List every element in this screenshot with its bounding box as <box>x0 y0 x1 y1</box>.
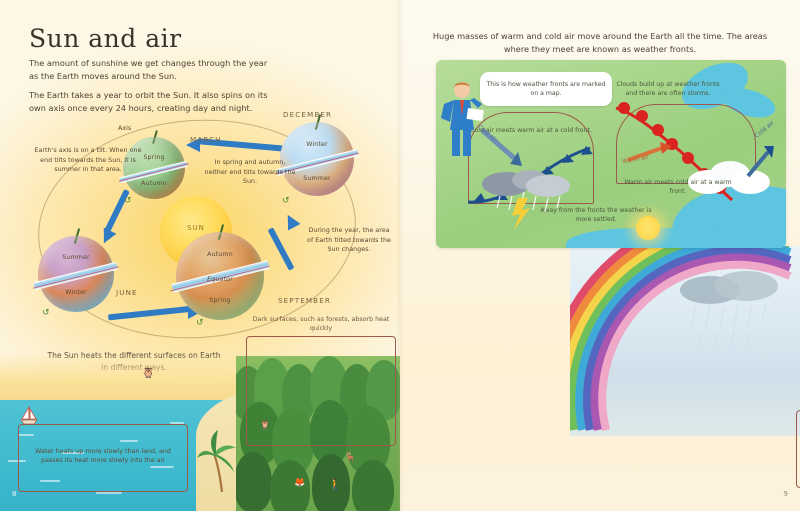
orbit-arrow-2 <box>94 186 140 246</box>
right-intro: Huge masses of warm and cold air move ar… <box>400 30 800 56</box>
month-label-march: MARCH <box>190 135 222 144</box>
cold-air-arrow-2 <box>742 142 778 182</box>
storm-cloud-icon <box>478 170 588 240</box>
callout-water: Water heats up more slowly than land, an… <box>18 424 188 492</box>
axis-label: Axis <box>118 124 131 132</box>
spin-icon-march: ↺ <box>124 196 132 206</box>
globe-label-september-north: Autumn <box>176 251 264 258</box>
callout-forest-text: Dark surfaces, such as forests, absorb h… <box>247 315 395 334</box>
clouds-caption: Clouds build up at weather fronts and th… <box>612 80 724 99</box>
speech-bubble-text: This is how weather fronts are marked on… <box>480 80 612 99</box>
book-spread: Sun and air The amount of sunshine we ge… <box>0 0 800 511</box>
page-number-left: 8 <box>12 490 16 498</box>
note-tilt-changes: During the year, the area of Earth tilte… <box>306 226 392 255</box>
callout-water-text: Water heats up more slowly than land, an… <box>19 447 187 466</box>
warm-air-arrow <box>624 140 680 168</box>
globe-label-june-north: Summer <box>38 254 114 261</box>
earth-globe-september: Autumn Equator Spring <box>176 232 264 320</box>
seagull-icon: 🦉 <box>142 368 154 379</box>
globe-label-june-south: Winter <box>38 289 114 296</box>
globe-label-equator: Equator <box>176 276 264 283</box>
speech-bubble: This is how weather fronts are marked on… <box>480 72 612 106</box>
month-label-september: SEPTEMBER <box>278 296 331 305</box>
weatherman-figure <box>438 78 486 158</box>
spin-icon-june: ↺ <box>42 308 50 318</box>
globe-label-september-south: Spring <box>176 297 264 304</box>
callout-pale: Pale surfaces reflect the Sun's rays. Th… <box>796 410 800 488</box>
rain-cloud-icon <box>674 270 794 380</box>
globe-label-december-north: Winter <box>280 141 354 148</box>
warm-front-caption: Warm air meets cold air at a warm front. <box>624 178 732 197</box>
lightning-icon <box>512 198 530 230</box>
spin-icon-september: ↺ <box>196 318 204 328</box>
note-spring-autumn: In spring and autumn, neither end tilts … <box>204 158 296 187</box>
fox-icon: 🦊 <box>294 478 305 488</box>
hiker-icon: 🚶 <box>328 478 342 491</box>
deer-icon: 🦌 <box>344 452 356 463</box>
left-page: Sun and air The amount of sunshine we ge… <box>0 0 400 511</box>
palm-tree-icon <box>196 420 252 494</box>
month-label-june: JUNE <box>116 288 138 297</box>
earth-globe-june: Summer Winter <box>38 236 114 312</box>
intro-paragraph-1: The amount of sunshine we get changes th… <box>29 57 269 84</box>
globe-label-march-south: Autumn <box>123 180 185 187</box>
intro-paragraph-2: The Earth takes a year to orbit the Sun.… <box>29 89 269 116</box>
right-page: Huge masses of warm and cold air move ar… <box>400 0 800 511</box>
book-gutter <box>398 0 402 511</box>
rainbow-scene <box>570 246 800 436</box>
month-label-december: DECEMBER <box>283 110 332 119</box>
page-title: Sun and air <box>29 24 182 53</box>
note-axis-tilt: Earth's axis is on a tilt. When one end … <box>32 146 144 175</box>
weather-map-panel: This is how weather fronts are marked on… <box>436 60 786 248</box>
callout-forest: Dark surfaces, such as forests, absorb h… <box>246 336 396 446</box>
spin-icon-december: ↺ <box>282 196 290 206</box>
page-number-right: 9 <box>784 490 788 498</box>
